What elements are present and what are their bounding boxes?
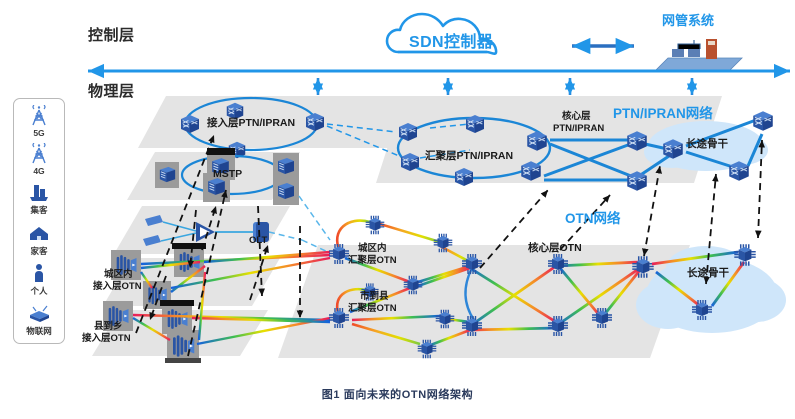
urban-access-otn-label-line2: 接入层OTN — [93, 282, 142, 293]
mstp-to-otn-link — [299, 196, 330, 240]
mstp-label: MSTP — [213, 169, 242, 181]
legend-label-5g: 5G — [33, 128, 44, 138]
otn-core-label: 核心层OTN — [528, 243, 582, 255]
ptn-network-title: PTN/IPRAN网络 — [613, 106, 713, 121]
urban-agg-otn-label-line1: 城区内 — [358, 244, 387, 255]
sdn-controller-label: SDN控制器 — [409, 34, 493, 52]
ptn-backbone-node — [753, 111, 773, 131]
legend-item-enterprise[interactable]: 集客 — [26, 181, 52, 216]
ptn-core-label-line1: 核心层 — [562, 112, 591, 123]
iot-router-icon — [26, 302, 52, 324]
legend-label-personal: 个人 — [30, 285, 47, 297]
mstp-node — [278, 158, 294, 174]
nms-label: 网管系统 — [662, 14, 714, 29]
legend-label-4g: 4G — [33, 166, 44, 176]
legend-label-iot: 物联网 — [26, 325, 52, 337]
person-icon — [26, 262, 52, 284]
otn-metro-node — [366, 216, 385, 235]
ptn-aggregation-ring-label: 汇聚层PTN/IPRAN — [425, 151, 513, 163]
mstp-node — [278, 183, 294, 199]
legend-item-5g[interactable]: 5G — [26, 105, 52, 138]
ptn-backbone-label: 长途骨干 — [686, 139, 728, 151]
nms-server-icon — [654, 39, 742, 72]
legend-item-4g[interactable]: 4G — [26, 143, 52, 176]
mstp-node — [160, 167, 175, 182]
legend-item-iot[interactable]: 物联网 — [26, 302, 52, 337]
client-type-legend: 5G 4G — [13, 98, 65, 344]
county-access-otn-label-line2: 接入层OTN — [82, 334, 131, 345]
legend-label-enterprise: 集客 — [30, 204, 47, 216]
urban-access-otn-label-line1: 城区内 — [104, 270, 133, 281]
otn-network-title: OTN网络 — [565, 211, 621, 226]
network-architecture-svg — [0, 0, 795, 419]
city-county-agg-otn-label-line1: 市到县 — [360, 292, 389, 303]
control-to-physical-arrows — [318, 78, 692, 95]
home-icon — [26, 222, 52, 244]
control-layer-label: 控制层 — [88, 28, 135, 45]
city-county-agg-otn-label-line2: 汇聚层OTN — [348, 304, 397, 315]
urban-agg-otn-label-line2: 汇聚层OTN — [348, 256, 397, 267]
legend-item-personal[interactable]: 个人 — [26, 262, 52, 297]
otn-backbone-label: 长途骨干 — [687, 268, 729, 280]
diagram-canvas: 控制层 物理层 SDN控制器 网管系统 PTN/IPRAN网络 OTN网络 接入… — [0, 0, 795, 419]
ptn-core-label-line2: PTN/IPRAN — [553, 124, 604, 135]
olt-label: OLT — [249, 236, 267, 247]
physical-layer-label: 物理层 — [88, 84, 135, 101]
ptn-access-ring-label: 接入层PTN/IPRAN — [207, 118, 295, 130]
county-access-otn-label-line1: 县到乡 — [94, 322, 123, 333]
figure-caption: 图1 面向未来的OTN网络架构 — [0, 386, 795, 402]
cell-tower-5g-icon — [26, 105, 52, 127]
enterprise-building-icon — [26, 181, 52, 203]
legend-label-home: 家客 — [30, 245, 47, 257]
legend-item-home[interactable]: 家客 — [26, 222, 52, 257]
cell-tower-4g-icon — [26, 143, 52, 165]
